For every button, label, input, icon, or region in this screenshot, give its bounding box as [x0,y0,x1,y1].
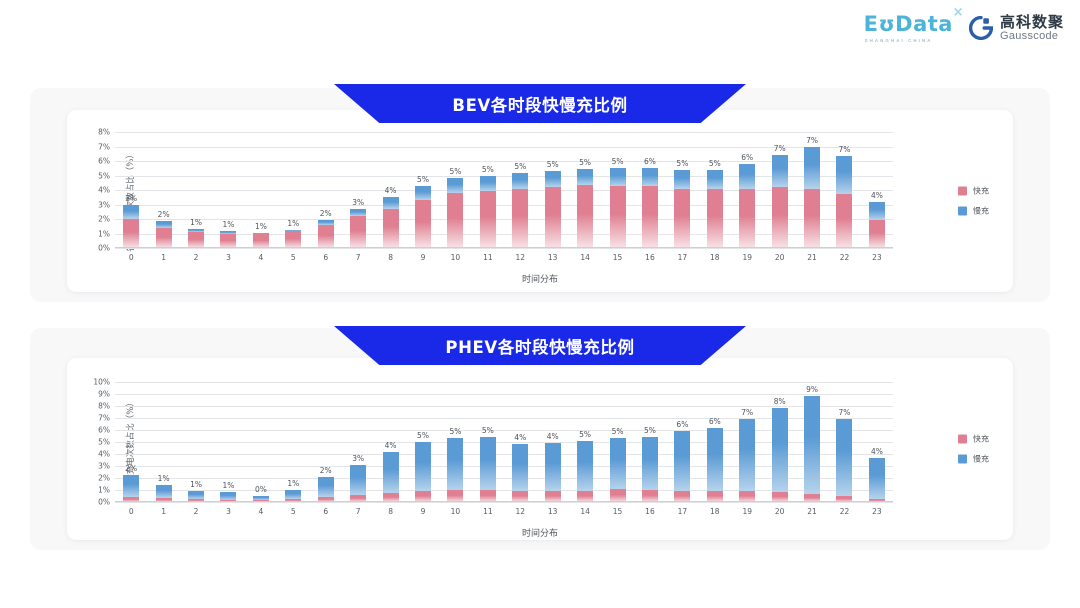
x-axis-tick-phev: 10 [451,507,461,516]
x-axis-tick-bev: 13 [548,253,558,262]
chart-card-phev: 各时段充电次数占比（%） 0%1%2%3%4%5%6%7%8%9%10% 2%0… [67,358,1013,540]
x-axis-tick-bev: 16 [645,253,655,262]
bar-value-label: 7% [839,408,851,417]
bar-segment-slow-charge[interactable] [707,170,723,189]
stacked-bar[interactable] [674,431,690,502]
stacked-bar[interactable] [188,229,204,248]
bar-value-label: 5% [612,427,624,436]
bar-slot[interactable]: 5%11 [472,382,504,502]
evdata-wordmark: EʊData × [864,14,953,35]
stacked-bar[interactable] [350,465,366,502]
stacked-bar[interactable] [739,419,755,502]
bar-segment-fast-charge[interactable] [318,225,334,248]
bar-value-label: 7% [741,408,753,417]
evdata-subtitle: SHANGHAI CHINA [865,38,933,43]
bar-segment-slow-charge[interactable] [350,209,366,216]
bar-segment-slow-charge[interactable] [188,491,204,499]
bar-slot[interactable]: 5%14 [569,382,601,502]
bar-value-label: 5% [579,430,591,439]
bar-segment-fast-charge[interactable] [447,193,463,248]
gridline [115,248,893,249]
bar-slot[interactable]: 5%13 [536,132,568,248]
bar-segment-slow-charge[interactable] [512,173,528,189]
x-axis-tick-bev: 15 [613,253,623,262]
bar-value-label: 1% [190,480,202,489]
bar-segment-slow-charge[interactable] [545,171,561,187]
chart-title-banner-phev: PHEV各时段快慢充比例 [334,326,746,365]
bar-slot[interactable]: 3%7 [342,382,374,502]
bar-slot[interactable]: 5%18 [699,132,731,248]
bar-slot[interactable]: 5%9 [407,132,439,248]
bar-segment-fast-charge[interactable] [739,189,755,248]
stacked-bar[interactable] [772,408,788,502]
stacked-bar[interactable] [512,173,528,248]
bar-segment-slow-charge[interactable] [739,419,755,491]
bar-value-label: 8% [774,397,786,406]
bar-segment-slow-charge[interactable] [804,396,820,494]
y-axis-tick-phev: 10% [93,378,110,387]
stacked-bar[interactable] [836,419,852,502]
bar-slot[interactable]: 1%1 [147,382,179,502]
stacked-bar[interactable] [156,485,172,502]
y-axis-tick-phev: 3% [98,462,110,471]
bar-segment-slow-charge[interactable] [415,186,431,200]
stacked-bar[interactable] [415,442,431,502]
bar-value-label: 5% [449,427,461,436]
bar-value-label: 5% [644,426,656,435]
bar-segment-slow-charge[interactable] [772,155,788,187]
bar-segment-fast-charge[interactable] [383,209,399,248]
y-axis-tick-phev: 7% [98,414,110,423]
gridline [115,502,893,503]
y-axis-tick-bev: 6% [98,157,110,166]
bar-value-label: 5% [417,431,429,440]
stacked-bar[interactable] [804,147,820,249]
bar-value-label: 1% [287,219,299,228]
bar-segment-fast-charge[interactable] [285,231,301,248]
bar-segment-slow-charge[interactable] [577,441,593,490]
x-axis-tick-bev: 11 [483,253,493,262]
bar-segment-fast-charge[interactable] [350,216,366,248]
x-axis-tick-phev: 1 [161,507,166,516]
bar-segment-fast-charge[interactable] [836,194,852,248]
bar-segment-fast-charge[interactable] [512,189,528,248]
bar-segment-fast-charge[interactable] [123,219,139,248]
x-axis-tick-bev: 21 [807,253,817,262]
bar-value-label: 7% [806,136,818,145]
bar-slot[interactable]: 2%6 [310,382,342,502]
bar-value-label: 6% [741,153,753,162]
y-axis-tick-bev: 7% [98,142,110,151]
x-axis-tick-bev: 9 [421,253,426,262]
stacked-bar[interactable] [383,197,399,248]
bar-segment-slow-charge[interactable] [480,437,496,490]
bar-slot[interactable]: 1%4 [245,132,277,248]
bar-segment-fast-charge[interactable] [674,189,690,248]
x-axis-tick-phev: 19 [742,507,752,516]
legend-phev: 快充慢充 [958,434,989,465]
bar-segment-slow-charge[interactable] [836,156,852,194]
legend-swatch [958,187,967,196]
x-axis-tick-phev: 0 [129,507,134,516]
x-axis-tick-bev: 18 [710,253,720,262]
bar-segment-slow-charge[interactable] [383,197,399,209]
chart-phev: 各时段充电次数占比（%） 0%1%2%3%4%5%6%7%8%9%10% 2%0… [67,358,1013,540]
x-axis-tick-phev: 15 [613,507,623,516]
stacked-bar[interactable] [383,452,399,502]
bar-segment-slow-charge[interactable] [383,452,399,493]
bar-segment-slow-charge[interactable] [285,490,301,499]
stacked-bar[interactable] [836,156,852,248]
bar-segment-slow-charge[interactable] [674,431,690,491]
bar-value-label: 7% [774,144,786,153]
bar-slot[interactable]: 6%18 [699,382,731,502]
bar-segment-slow-charge[interactable] [447,178,463,192]
bar-segment-slow-charge[interactable] [577,169,593,185]
stacked-bar[interactable] [285,230,301,248]
y-axis-tick-phev: 4% [98,450,110,459]
bar-slot[interactable]: 1%3 [212,132,244,248]
legend-label: 慢充 [973,206,989,217]
legend-label: 慢充 [973,454,989,465]
bar-segment-fast-charge[interactable] [772,187,788,248]
bar-value-label: 5% [482,165,494,174]
bar-segment-fast-charge[interactable] [480,191,496,248]
y-axis-tick-bev: 1% [98,229,110,238]
bar-value-label: 1% [223,220,235,229]
bar-slot[interactable]: 5%17 [666,132,698,248]
y-axis-tick-bev: 8% [98,128,110,137]
x-axis-tick-phev: 4 [259,507,264,516]
bar-segment-slow-charge[interactable] [123,475,139,497]
bar-value-label: 1% [255,222,267,231]
legend-item[interactable]: 慢充 [958,454,989,465]
bar-slot[interactable]: 7%21 [796,132,828,248]
x-axis-tick-phev: 14 [580,507,590,516]
x-axis-tick-bev: 0 [129,253,134,262]
bar-segment-fast-charge[interactable] [804,189,820,248]
stacked-bar[interactable] [642,437,658,502]
bar-segment-fast-charge[interactable] [610,186,626,248]
bar-value-label: 1% [223,481,235,490]
legend-item[interactable]: 慢充 [958,206,989,217]
bar-value-label: 2% [158,210,170,219]
x-axis-tick-phev: 5 [291,507,296,516]
bar-segment-slow-charge[interactable] [610,168,626,185]
x-axis-tick-bev: 20 [775,253,785,262]
x-axis-tick-phev: 7 [356,507,361,516]
y-axis-tick-phev: 9% [98,390,110,399]
x-axis-tick-bev: 1 [161,253,166,262]
stacked-bar[interactable] [123,475,139,502]
bar-segment-fast-charge[interactable] [577,185,593,248]
stacked-bar[interactable] [642,168,658,248]
bar-value-label: 5% [579,158,591,167]
bar-segment-fast-charge[interactable] [869,220,885,248]
y-axis-tick-bev: 0% [98,244,110,253]
x-axis-tick-phev: 22 [840,507,850,516]
x-axis-tick-phev: 2 [194,507,199,516]
bar-segment-fast-charge[interactable] [220,234,236,248]
bar-segment-slow-charge[interactable] [739,164,755,189]
bar-slot[interactable]: 4%23 [861,382,893,502]
bar-slot[interactable]: 4%12 [504,382,536,502]
x-axis-tick-bev: 5 [291,253,296,262]
bar-slot[interactable]: 4%13 [536,382,568,502]
bar-slot[interactable]: 5%16 [634,382,666,502]
bar-slot[interactable]: 1%2 [180,132,212,248]
y-axis-tick-bev: 4% [98,186,110,195]
evdata-x-icon: × [953,6,964,19]
x-axis-tick-phev: 6 [323,507,328,516]
gausscode-name-cn: 高科数聚 [1000,15,1064,31]
bar-value-label: 3% [352,198,364,207]
bar-segment-fast-charge[interactable] [415,200,431,248]
bar-slot[interactable]: 6%17 [666,382,698,502]
bar-value-label: 5% [709,159,721,168]
bar-segment-slow-charge[interactable] [869,202,885,220]
bar-value-label: 3% [352,454,364,463]
stacked-bar[interactable] [318,477,334,502]
stacked-bar[interactable] [772,155,788,248]
y-axis-tick-phev: 8% [98,402,110,411]
legend-swatch [958,455,967,464]
stacked-bar[interactable] [253,233,269,248]
bar-segment-slow-charge[interactable] [772,408,788,492]
legend-label: 快充 [973,434,989,445]
bar-segment-fast-charge[interactable] [707,189,723,248]
stacked-bar[interactable] [156,221,172,248]
y-axis-tick-phev: 2% [98,474,110,483]
y-axis-tick-bev: 2% [98,215,110,224]
stacked-bar[interactable] [318,220,334,248]
x-axis-tick-bev: 14 [580,253,590,262]
stacked-bar[interactable] [123,205,139,248]
bar-slot[interactable]: 1%5 [277,382,309,502]
bar-segment-slow-charge[interactable] [674,170,690,188]
bar-slot[interactable]: 2%1 [147,132,179,248]
bar-slot[interactable]: 1%5 [277,132,309,248]
x-axis-tick-phev: 3 [226,507,231,516]
y-axis-tick-phev: 6% [98,426,110,435]
x-axis-tick-phev: 21 [807,507,817,516]
bar-segment-slow-charge[interactable] [545,443,561,490]
bar-value-label: 7% [839,145,851,154]
bar-slot[interactable]: 5%12 [504,132,536,248]
stacked-bar[interactable] [415,186,431,248]
bar-segment-slow-charge[interactable] [156,485,172,498]
x-axis-tick-phev: 17 [678,507,688,516]
bar-value-label: 3% [125,194,137,203]
bar-slot[interactable]: 7%22 [828,382,860,502]
bar-value-label: 4% [871,447,883,456]
bar-segment-slow-charge[interactable] [350,465,366,495]
bar-slot[interactable]: 5%15 [601,382,633,502]
stacked-bar[interactable] [707,428,723,502]
chart-card-bev: 各时段充电次数占比（%） 0%1%2%3%4%5%6%7%8% 3%02%11%… [67,110,1013,292]
stacked-bar[interactable] [447,438,463,502]
bar-segment-fast-charge[interactable] [253,234,269,248]
bar-value-label: 9% [806,385,818,394]
bar-slot[interactable]: 6%16 [634,132,666,248]
x-axis-tick-bev: 22 [840,253,850,262]
legend-item[interactable]: 快充 [958,186,989,197]
bar-slot[interactable]: 7%20 [763,132,795,248]
chart-title-phev: PHEV各时段快慢充比例 [445,334,634,358]
legend-item[interactable]: 快充 [958,434,989,445]
stacked-bar[interactable] [869,202,885,248]
bar-segment-slow-charge[interactable] [869,458,885,499]
bar-segment-slow-charge[interactable] [707,428,723,490]
bar-value-label: 4% [514,433,526,442]
brand-header: EʊData × SHANGHAI CHINA 高科数聚 Gausscode [864,14,1064,43]
bar-slot[interactable]: 4%8 [374,132,406,248]
bar-slot[interactable]: 4%8 [374,382,406,502]
bar-slot[interactable]: 3%0 [115,132,147,248]
gausscode-name-en: Gausscode [1000,31,1064,43]
bar-group-bev: 3%02%11%21%31%41%52%63%74%85%95%105%115%… [115,132,893,248]
bar-slot[interactable]: 5%10 [439,132,471,248]
x-axis-tick-bev: 3 [226,253,231,262]
bar-value-label: 2% [320,209,332,218]
stacked-bar[interactable] [577,441,593,502]
bar-value-label: 4% [385,441,397,450]
stacked-bar[interactable] [350,209,366,248]
gausscode-logo: 高科数聚 Gausscode [969,15,1064,42]
stacked-bar[interactable] [447,178,463,248]
bar-segment-slow-charge[interactable] [836,419,852,496]
x-axis-tick-phev: 11 [483,507,493,516]
x-axis-line-phev [115,501,893,502]
bar-value-label: 6% [709,417,721,426]
bar-slot[interactable]: 6%19 [731,132,763,248]
bar-slot[interactable]: 7%22 [828,132,860,248]
stacked-bar[interactable] [512,444,528,502]
bar-group-phev: 2%01%11%21%30%41%52%63%74%85%95%105%114%… [115,382,893,502]
stacked-bar[interactable] [610,438,626,502]
y-axis-tick-bev: 5% [98,171,110,180]
x-axis-tick-bev: 2 [194,253,199,262]
bar-slot[interactable]: 8%20 [763,382,795,502]
x-axis-tick-bev: 7 [356,253,361,262]
gausscode-mark-icon [969,16,993,40]
bar-slot[interactable]: 1%3 [212,382,244,502]
bar-slot[interactable]: 5%15 [601,132,633,248]
x-axis-tick-phev: 18 [710,507,720,516]
bar-segment-slow-charge[interactable] [318,477,334,496]
y-axis-tick-phev: 0% [98,498,110,507]
legend-swatch [958,207,967,216]
bar-slot[interactable]: 5%10 [439,382,471,502]
bar-value-label: 4% [871,191,883,200]
bar-segment-slow-charge[interactable] [512,444,528,491]
bar-slot[interactable]: 7%19 [731,382,763,502]
stacked-bar[interactable] [545,171,561,248]
bar-segment-slow-charge[interactable] [642,437,658,490]
y-axis-tick-phev: 1% [98,486,110,495]
stacked-bar[interactable] [220,231,236,248]
x-axis-tick-bev: 10 [451,253,461,262]
bar-value-label: 5% [514,162,526,171]
bar-segment-slow-charge[interactable] [480,176,496,191]
legend-swatch [958,435,967,444]
bar-segment-slow-charge[interactable] [220,492,236,500]
stacked-bar[interactable] [869,458,885,502]
bar-value-label: 5% [547,160,559,169]
x-axis-label-phev: 时间分布 [67,526,1013,539]
bar-slot[interactable]: 2%6 [310,132,342,248]
stacked-bar[interactable] [480,437,496,502]
bar-value-label: 4% [385,186,397,195]
bar-slot[interactable]: 0%4 [245,382,277,502]
gausscode-text: 高科数聚 Gausscode [1000,15,1064,42]
stacked-bar[interactable] [480,176,496,248]
x-axis-tick-phev: 8 [388,507,393,516]
bar-slot[interactable]: 2%0 [115,382,147,502]
bar-slot[interactable]: 9%21 [796,382,828,502]
bar-segment-slow-charge[interactable] [447,438,463,490]
bar-value-label: 5% [482,426,494,435]
x-axis-tick-bev: 8 [388,253,393,262]
bar-slot[interactable]: 4%23 [861,132,893,248]
bar-slot[interactable]: 5%11 [472,132,504,248]
bar-segment-fast-charge[interactable] [188,232,204,248]
bar-value-label: 5% [676,159,688,168]
x-axis-tick-bev: 4 [259,253,264,262]
plot-area-phev: 0%1%2%3%4%5%6%7%8%9%10% 2%01%11%21%30%41… [115,382,893,502]
stacked-bar[interactable] [545,443,561,502]
bar-segment-slow-charge[interactable] [642,168,658,186]
legend-label: 快充 [973,186,989,197]
bar-segment-slow-charge[interactable] [123,205,139,219]
bar-value-label: 6% [676,420,688,429]
bar-slot[interactable]: 5%9 [407,382,439,502]
evdata-logo: EʊData × SHANGHAI CHINA [864,14,953,43]
bar-value-label: 1% [158,474,170,483]
x-axis-tick-phev: 13 [548,507,558,516]
stacked-bar[interactable] [739,164,755,248]
bar-value-label: 5% [612,157,624,166]
bar-value-label: 1% [287,479,299,488]
bar-segment-fast-charge[interactable] [642,186,658,248]
slide-page: EʊData × SHANGHAI CHINA 高科数聚 Gausscode 各… [0,0,1080,608]
evdata-wordmark-text: EʊData [864,12,953,36]
legend-bev: 快充慢充 [958,186,989,217]
stacked-bar[interactable] [707,170,723,248]
bar-value-label: 5% [417,175,429,184]
chart-title-banner-bev: BEV各时段快慢充比例 [334,84,746,123]
x-axis-tick-phev: 9 [421,507,426,516]
bar-slot[interactable]: 1%2 [180,382,212,502]
bar-segment-fast-charge[interactable] [545,187,561,248]
x-axis-line-bev [115,247,893,248]
bar-segment-slow-charge[interactable] [610,438,626,490]
bar-slot[interactable]: 3%7 [342,132,374,248]
x-axis-tick-bev: 6 [323,253,328,262]
bar-value-label: 2% [125,464,137,473]
bar-segment-slow-charge[interactable] [415,442,431,491]
stacked-bar[interactable] [610,168,626,248]
bar-segment-slow-charge[interactable] [804,147,820,190]
stacked-bar[interactable] [804,396,820,502]
bar-value-label: 0% [255,485,267,494]
stacked-bar[interactable] [674,170,690,248]
bar-slot[interactable]: 5%14 [569,132,601,248]
stacked-bar[interactable] [577,169,593,248]
bar-segment-fast-charge[interactable] [156,228,172,248]
x-axis-tick-phev: 16 [645,507,655,516]
chart-title-bev: BEV各时段快慢充比例 [452,92,627,116]
